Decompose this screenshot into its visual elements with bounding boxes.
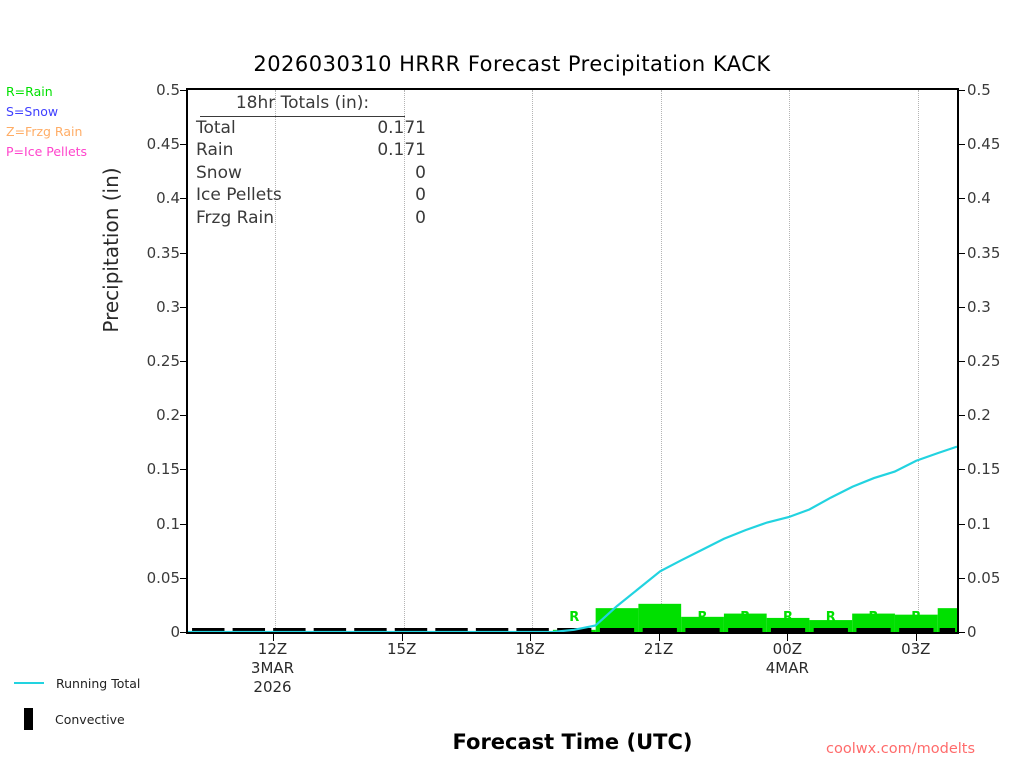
y-tick-mark-left <box>180 524 187 525</box>
y-axis-ticks-left <box>179 88 187 634</box>
totals-row: Ice Pellets0 <box>196 184 426 207</box>
ptype-letter: R <box>783 610 793 625</box>
y-tick-label-right: 0.2 <box>967 406 1024 424</box>
legend-entry-convective: Convective <box>14 701 140 737</box>
y-tick-label-right: 0.4 <box>967 189 1024 207</box>
y-tick-label-left: 0.1 <box>120 515 180 533</box>
y-tick-mark-left <box>180 632 187 633</box>
box-swatch-icon <box>24 708 33 730</box>
ptype-letter: R <box>869 610 879 625</box>
y-tick-mark-left <box>180 90 187 91</box>
totals-row-label: Frzg Rain <box>196 207 341 230</box>
y-tick-mark-left <box>180 307 187 308</box>
x-tick-12Z: 12Z3MAR2026 <box>251 640 294 697</box>
line-swatch-icon <box>14 682 44 684</box>
totals-row: Frzg Rain0 <box>196 207 426 230</box>
x-axis-labels: 12Z3MAR202615Z18Z21Z00Z4MAR03Z <box>186 640 959 730</box>
x-tick-21Z: 21Z <box>644 640 673 659</box>
totals-row-value: 0.171 <box>341 139 426 162</box>
y-tick-label-left: 0.25 <box>120 352 180 370</box>
ptype-letter: R <box>826 610 836 625</box>
y-tick-label-right: 0.15 <box>967 460 1024 478</box>
y-tick-mark-right <box>958 90 965 91</box>
totals-row-label: Ice Pellets <box>196 184 341 207</box>
y-tick-label-left: 0.35 <box>120 244 180 262</box>
x-tick-line-2: 2026 <box>251 678 294 697</box>
y-tick-mark-right <box>958 144 965 145</box>
y-tick-label-left: 0.3 <box>120 298 180 316</box>
y-tick-mark-right <box>958 469 965 470</box>
y-tick-label-left: 0.15 <box>120 460 180 478</box>
totals-row-label: Rain <box>196 139 341 162</box>
y-tick-mark-left <box>180 144 187 145</box>
totals-row-label: Snow <box>196 162 341 185</box>
x-tick-line-0: 18Z <box>515 640 544 659</box>
y-tick-mark-right <box>958 361 965 362</box>
x-tick-line-0: 21Z <box>644 640 673 659</box>
totals-row: Total0.171 <box>196 117 426 140</box>
ptype-letter: R <box>612 610 622 625</box>
y-tick-mark-left <box>180 253 187 254</box>
precip-legend-item-2: Z=Frzg Rain <box>6 122 87 142</box>
x-tick-15Z: 15Z <box>387 640 416 659</box>
y-tick-label-right: 0.3 <box>967 298 1024 316</box>
totals-summary-box: 18hr Totals (in): Total0.171Rain0.171Sno… <box>196 92 486 229</box>
ptype-letter: R <box>911 610 921 625</box>
ptype-letter: R <box>569 610 579 625</box>
y-tick-label-right: 0 <box>967 623 1024 641</box>
totals-heading: 18hr Totals (in): <box>200 92 405 117</box>
y-tick-mark-left <box>180 361 187 362</box>
series-legend: Running TotalConvective <box>14 665 140 737</box>
y-axis-ticks-right <box>958 88 966 634</box>
x-tick-line-0: 03Z <box>901 640 930 659</box>
precip-type-legend: R=RainS=SnowZ=Frzg RainP=Ice Pellets <box>6 82 87 162</box>
precip-legend-item-0: R=Rain <box>6 82 87 102</box>
y-tick-mark-right <box>958 198 965 199</box>
ptype-letter: R <box>655 610 665 625</box>
y-tick-mark-left <box>180 578 187 579</box>
y-tick-label-right: 0.5 <box>967 81 1024 99</box>
x-tick-line-1: 3MAR <box>251 659 294 678</box>
y-tick-label-right: 0.25 <box>967 352 1024 370</box>
y-tick-mark-right <box>958 578 965 579</box>
totals-row-value: 0.171 <box>341 117 426 140</box>
y-tick-label-left: 0.4 <box>120 189 180 207</box>
y-tick-label-left: 0 <box>120 623 180 641</box>
y-tick-label-right: 0.35 <box>967 244 1024 262</box>
legend-label: Convective <box>55 712 125 727</box>
precip-legend-item-1: S=Snow <box>6 102 87 122</box>
y-axis-labels-right: 00.050.10.150.20.250.30.350.40.450.5 <box>967 88 1024 634</box>
x-tick-line-0: 15Z <box>387 640 416 659</box>
x-tick-00Z: 00Z4MAR <box>766 640 809 678</box>
precip-legend-item-3: P=Ice Pellets <box>6 142 87 162</box>
legend-label: Running Total <box>56 676 140 691</box>
y-tick-label-left: 0.45 <box>120 135 180 153</box>
ptype-letter: R <box>942 610 952 625</box>
y-tick-label-right: 0.45 <box>967 135 1024 153</box>
watermark: coolwx.com/modelts <box>826 741 975 757</box>
y-axis-title: Precipitation (in) <box>99 125 123 375</box>
running-total-line <box>188 447 957 632</box>
ptype-letter: R <box>740 610 750 625</box>
ptype-letter: R <box>698 610 708 625</box>
x-tick-line-0: 12Z <box>251 640 294 659</box>
y-tick-mark-left <box>180 198 187 199</box>
totals-row: Snow0 <box>196 162 426 185</box>
precip-type-letters: RRRRRRRRRR <box>188 610 957 630</box>
x-tick-line-0: 00Z <box>766 640 809 659</box>
x-tick-18Z: 18Z <box>515 640 544 659</box>
y-tick-mark-left <box>180 469 187 470</box>
y-tick-label-left: 0.2 <box>120 406 180 424</box>
totals-row-label: Total <box>196 117 341 140</box>
y-tick-mark-right <box>958 415 965 416</box>
x-tick-03Z: 03Z <box>901 640 930 659</box>
totals-row: Rain0.171 <box>196 139 426 162</box>
totals-row-value: 0 <box>341 184 426 207</box>
y-tick-mark-left <box>180 415 187 416</box>
totals-row-value: 0 <box>341 207 426 230</box>
y-tick-label-left: 0.5 <box>120 81 180 99</box>
page-title: 2026030310 HRRR Forecast Precipitation K… <box>0 52 1024 76</box>
legend-entry-running-total: Running Total <box>14 665 140 701</box>
y-tick-mark-right <box>958 253 965 254</box>
y-tick-label-right: 0.05 <box>967 569 1024 587</box>
y-axis-labels-left: 00.050.10.150.20.250.30.350.40.450.5 <box>116 88 180 634</box>
totals-row-value: 0 <box>341 162 426 185</box>
y-tick-label-left: 0.05 <box>120 569 180 587</box>
y-tick-mark-right <box>958 524 965 525</box>
y-tick-mark-right <box>958 632 965 633</box>
y-tick-mark-right <box>958 307 965 308</box>
y-tick-label-right: 0.1 <box>967 515 1024 533</box>
x-tick-line-1: 4MAR <box>766 659 809 678</box>
totals-rows: Total0.171Rain0.171Snow0Ice Pellets0Frzg… <box>196 117 486 230</box>
